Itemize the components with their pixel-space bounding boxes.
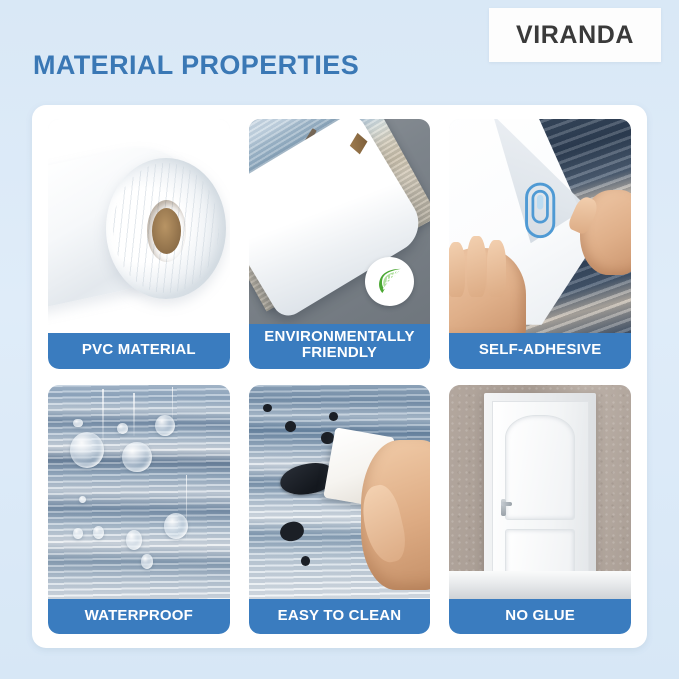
feature-tile-easy-to-clean: EASY TO CLEAN [249, 385, 431, 635]
stain-shape [285, 421, 296, 432]
feature-label-text: SELF-ADHESIVE [453, 342, 627, 358]
pvc-roll-shape [106, 158, 226, 299]
finger-shape [449, 242, 465, 297]
feature-label-text: EASY TO CLEAN [253, 608, 427, 624]
feature-label-text: NO GLUE [453, 608, 627, 624]
eco-peel-image [249, 119, 431, 324]
right-hand-shape [580, 190, 631, 276]
film-edge-shape [350, 133, 368, 155]
eco-badge [365, 257, 414, 306]
water-droplet [122, 442, 151, 472]
water-droplet [73, 419, 82, 428]
stain-shape [301, 556, 310, 566]
page-title: MATERIAL PROPERTIES [33, 50, 359, 81]
water-droplet [93, 526, 104, 539]
water-droplet [70, 432, 105, 468]
feature-label-easy-to-clean: EASY TO CLEAN [249, 599, 431, 634]
no-glue-image [449, 385, 631, 599]
self-adhesive-image [449, 119, 631, 333]
feature-label-environmentally-friendly: ENVIRONMENTALLY FRIENDLY [249, 324, 431, 368]
feature-label-text: ENVIRONMENTALLY FRIENDLY [253, 329, 427, 361]
water-droplet [141, 554, 154, 569]
feature-grid: PVC MATERIAL [48, 119, 631, 634]
droplet-trail [172, 387, 173, 421]
feature-card: PVC MATERIAL [32, 105, 647, 648]
door-panel-shape [505, 415, 575, 520]
feature-label-text: PVC MATERIAL [52, 342, 226, 358]
stain-shape [329, 412, 338, 421]
water-droplet [79, 496, 86, 504]
water-droplet [126, 530, 142, 549]
feature-label-waterproof: WATERPROOF [48, 599, 230, 634]
stain-shape [278, 519, 305, 543]
finger-shape [467, 236, 485, 296]
pvc-core-shape [147, 200, 187, 262]
feature-tile-waterproof: WATERPROOF [48, 385, 230, 635]
door-frame-shape [484, 393, 597, 590]
paperclip-icon [522, 175, 558, 246]
baseboard-shape [449, 571, 631, 599]
feature-tile-environmentally-friendly: ENVIRONMENTALLY FRIENDLY [249, 119, 431, 369]
water-droplet [73, 528, 82, 539]
feature-label-no-glue: NO GLUE [449, 599, 631, 634]
droplet-trail [133, 393, 134, 436]
water-droplet [155, 415, 175, 436]
paperclip-icon-wrap [522, 175, 558, 246]
easy-to-clean-image [249, 385, 431, 599]
thumb-shape [356, 482, 409, 566]
feature-tile-self-adhesive: SELF-ADHESIVE [449, 119, 631, 369]
feature-tile-no-glue: NO GLUE [449, 385, 631, 635]
feature-label-self-adhesive: SELF-ADHESIVE [449, 333, 631, 368]
waterproof-image [48, 385, 230, 599]
water-droplet [164, 513, 188, 539]
leaf-icon [373, 264, 406, 297]
feature-tile-pvc-material: PVC MATERIAL [48, 119, 230, 369]
door-handle-shape [501, 499, 506, 516]
door-leaf-shape [492, 401, 589, 590]
brand-logo-text: VIRANDA [516, 21, 634, 50]
feature-label-pvc-material: PVC MATERIAL [48, 333, 230, 368]
brand-logo-box: VIRANDA [489, 8, 661, 62]
infographic-page: VIRANDA MATERIAL PROPERTIES PVC MATERIAL [0, 0, 679, 679]
water-droplet [117, 423, 128, 434]
feature-label-text: WATERPROOF [52, 608, 226, 624]
droplet-trail [102, 389, 103, 445]
finger-shape [487, 240, 505, 297]
hand-shape [361, 440, 430, 590]
stain-shape [263, 404, 272, 413]
pvc-roll-image [48, 119, 230, 333]
